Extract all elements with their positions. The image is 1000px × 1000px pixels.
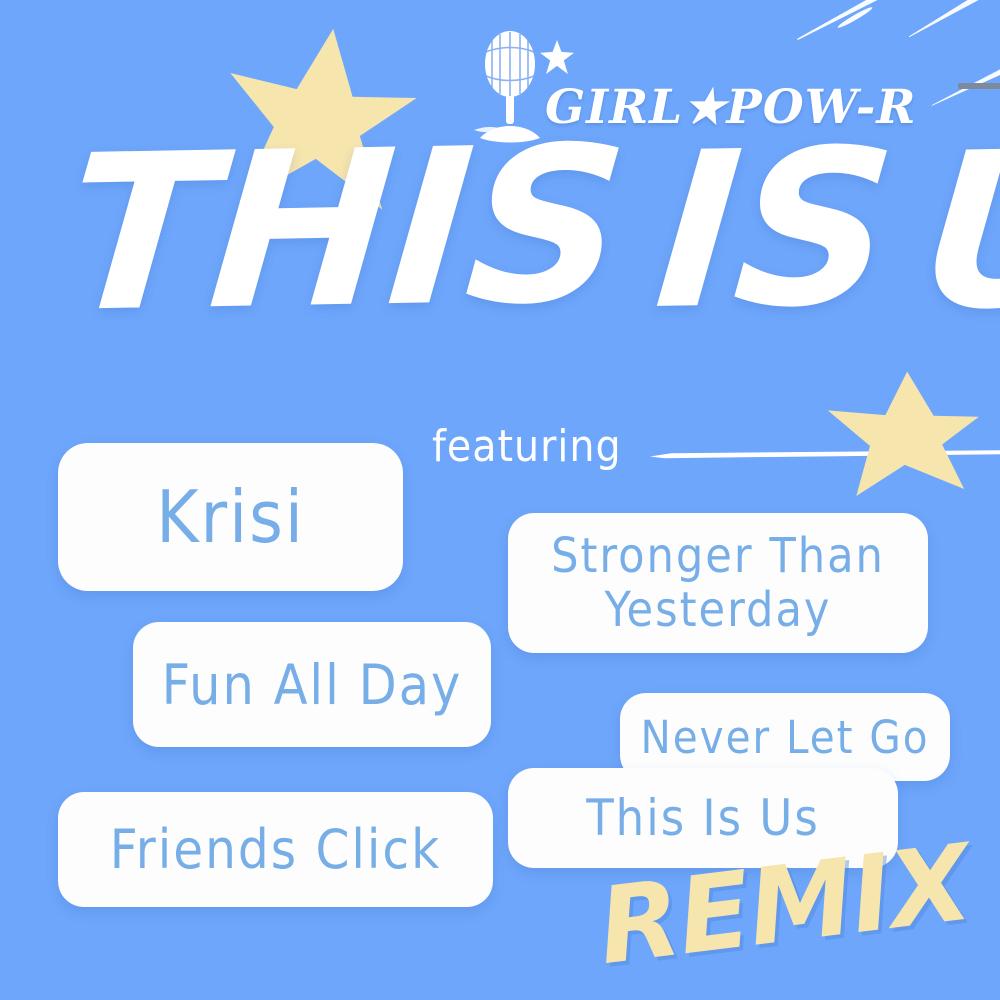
brush-streak-icon (906, 0, 1000, 41)
page-title: THISISUS (68, 122, 968, 382)
artist-name: Friends Click (110, 818, 442, 881)
star-icon (825, 366, 985, 501)
title-word-2: IS (650, 120, 900, 339)
featuring-label: featuring (432, 424, 622, 470)
track-name: Never Let Go (640, 711, 929, 764)
title-word-3: US (915, 119, 1000, 340)
artist-card[interactable]: Krisi (58, 443, 403, 591)
artist-name: Krisi (156, 475, 305, 559)
brush-streak-icon (930, 54, 1000, 109)
poster-canvas: GIRL★POW-R THISISUS featuring Krisi Fun … (0, 0, 1000, 1000)
artist-card[interactable]: Friends Click (58, 792, 493, 907)
gray-dash-icon (958, 83, 1000, 89)
track-name: Stronger Than Yesterday (508, 529, 928, 637)
artist-card[interactable]: Fun All Day (133, 622, 491, 747)
artist-name: Fun All Day (162, 653, 463, 717)
title-word-1: THIS (58, 117, 631, 342)
track-name: This Is Us (586, 789, 820, 847)
track-card[interactable]: Stronger Than Yesterday (508, 513, 928, 653)
